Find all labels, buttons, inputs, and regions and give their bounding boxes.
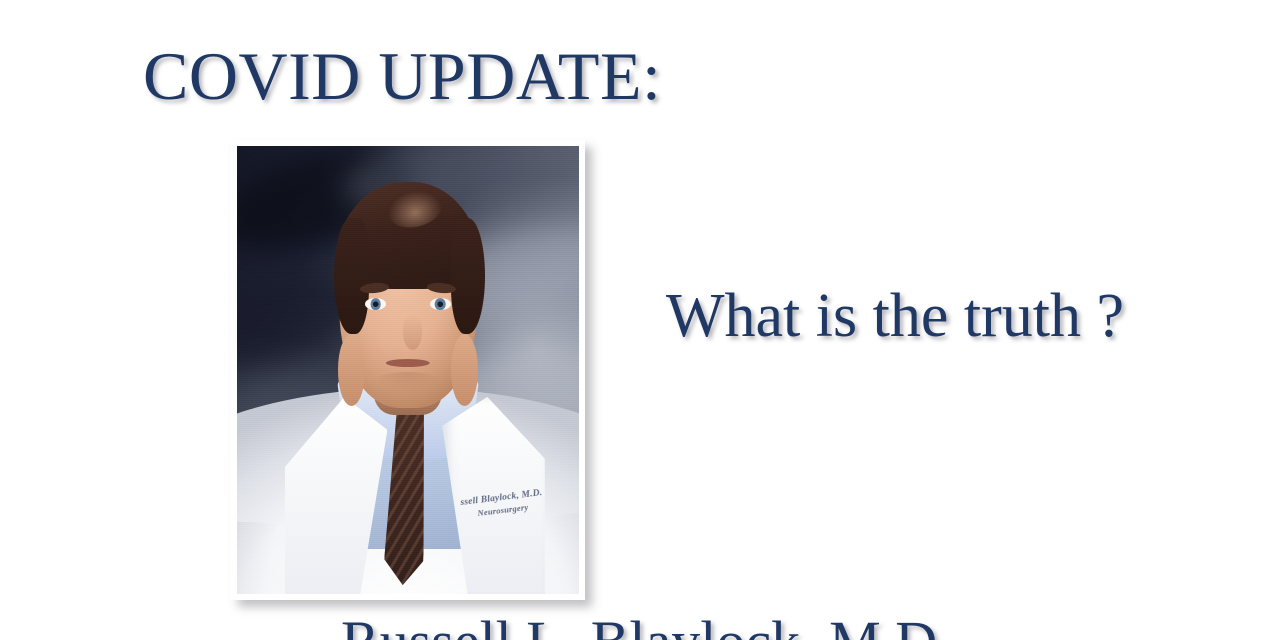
nose [403, 314, 422, 350]
ear-left [338, 334, 365, 406]
portrait-photo: ssell Blaylock, M.D. Neurosurgery [231, 140, 585, 600]
eye-left [365, 298, 386, 310]
eye-right [430, 298, 451, 310]
ear-right [451, 334, 478, 406]
page-title: COVID UPDATE: [143, 42, 661, 110]
presenter-name: Russell L. Blaylock, M.D. [341, 613, 952, 640]
iris-right [435, 298, 446, 310]
slide-canvas: COVID UPDATE: ssell Blaylock, M.D. [0, 0, 1280, 640]
slide-subtitle: What is the truth ? [666, 285, 1124, 347]
portrait-image: ssell Blaylock, M.D. Neurosurgery [237, 146, 579, 594]
iris-left [370, 298, 381, 310]
hair-side-right [451, 218, 485, 334]
hair-side-left [334, 218, 368, 334]
